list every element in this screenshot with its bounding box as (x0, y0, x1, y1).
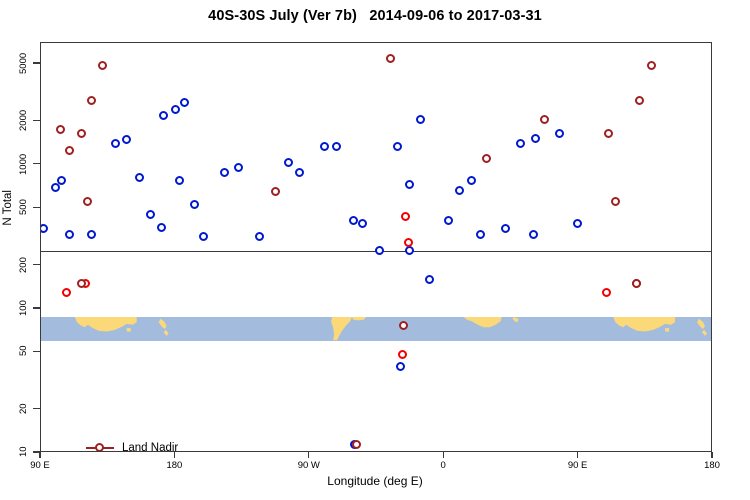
data-point-marker (122, 135, 131, 144)
data-point-marker (220, 168, 229, 177)
landmass-shape (464, 317, 502, 327)
data-point-marker (77, 279, 86, 288)
y-tick-label: 50 (18, 335, 29, 367)
data-point-marker (87, 96, 96, 105)
x-tick-mark (174, 452, 175, 458)
landmass-shape (665, 328, 669, 331)
x-tick-label: 90 E (568, 460, 588, 471)
data-point-marker (482, 154, 491, 163)
data-point-marker (398, 350, 407, 359)
y-tick-label: 200 (18, 249, 29, 281)
landmass-shape (159, 319, 167, 329)
data-point-marker (146, 210, 155, 219)
data-point-marker (271, 187, 280, 196)
y-tick-label: 100 (18, 292, 29, 324)
data-point-marker (416, 115, 425, 124)
data-point-marker (531, 134, 540, 143)
data-point-marker (159, 111, 168, 120)
data-point-marker (135, 173, 144, 182)
data-point-marker (234, 163, 243, 172)
data-point-marker (540, 115, 549, 124)
x-tick-label: 90 E (30, 460, 50, 471)
landmass-shape (697, 319, 705, 329)
data-point-marker (320, 142, 329, 151)
y-tick-mark (33, 207, 40, 208)
y-axis-title: N Total (2, 190, 14, 226)
data-point-marker (171, 105, 180, 114)
data-point-marker (40, 224, 48, 233)
y-tick-label: 10 (18, 436, 29, 468)
y-tick-mark (33, 307, 40, 308)
data-point-marker (425, 275, 434, 284)
world-map-landmasses (41, 317, 711, 341)
data-point-marker (404, 238, 413, 247)
data-point-marker (393, 142, 402, 151)
data-point-marker (175, 176, 184, 185)
data-point-marker (611, 197, 620, 206)
data-point-marker (455, 186, 464, 195)
landmass-shape (331, 317, 352, 340)
data-point-marker (180, 98, 189, 107)
data-point-marker (405, 180, 414, 189)
chart-legend: Land Nadir Land Glint Ocean Glint (86, 441, 183, 452)
landmass-shape (352, 317, 366, 320)
data-point-marker (57, 176, 66, 185)
data-point-marker (602, 288, 611, 297)
data-point-marker (501, 224, 510, 233)
y-tick-mark (33, 120, 40, 121)
data-point-marker (396, 362, 405, 371)
data-point-marker (157, 223, 166, 232)
data-point-marker (635, 96, 644, 105)
data-point-marker (56, 125, 65, 134)
y-tick-label: 2000 (18, 104, 29, 136)
data-point-marker (255, 232, 264, 241)
data-point-marker (65, 146, 74, 155)
data-point-marker (332, 142, 341, 151)
data-point-marker (386, 54, 395, 63)
data-point-marker (444, 216, 453, 225)
x-axis-title: Longitude (deg E) (0, 474, 750, 488)
y-tick-mark (33, 264, 40, 265)
data-point-marker (349, 216, 358, 225)
x-tick-label: 180 (704, 460, 720, 471)
data-point-marker (573, 219, 582, 228)
legend-label-land-nadir: Land Nadir (122, 442, 178, 452)
data-point-marker (83, 197, 92, 206)
legend-item-land-nadir: Land Nadir (86, 441, 183, 452)
data-point-marker (401, 212, 410, 221)
x-tick-mark (577, 452, 578, 458)
y-tick-label: 500 (18, 191, 29, 223)
data-point-marker (632, 279, 641, 288)
chart-figure: 40S-30S July (Ver 7b) 2014-09-06 to 2017… (0, 0, 750, 500)
landmass-shape (702, 330, 707, 336)
y-tick-mark (33, 408, 40, 409)
x-tick-label: 0 (441, 460, 446, 471)
y-tick-mark (33, 351, 40, 352)
data-point-marker (358, 219, 367, 228)
data-point-marker (295, 168, 304, 177)
data-point-marker (111, 139, 120, 148)
x-tick-mark (39, 452, 40, 458)
data-point-marker (284, 158, 293, 167)
x-tick-mark (711, 452, 712, 458)
legend-marker-icon-land-nadir (86, 442, 114, 452)
world-map-band (41, 317, 711, 341)
data-point-marker (555, 129, 564, 138)
data-point-marker (87, 230, 96, 239)
data-point-marker (375, 246, 384, 255)
data-point-marker (62, 288, 71, 297)
x-tick-mark (443, 452, 444, 458)
x-tick-mark (308, 452, 309, 458)
chart-title: 40S-30S July (Ver 7b) 2014-09-06 to 2017… (0, 8, 750, 24)
data-point-marker (467, 176, 476, 185)
y-tick-label: 1000 (18, 148, 29, 180)
y-tick-mark (33, 163, 40, 164)
data-point-marker (529, 230, 538, 239)
data-point-marker (190, 200, 199, 209)
x-tick-label: 180 (166, 460, 182, 471)
y-tick-label: 20 (18, 393, 29, 425)
data-point-marker (77, 129, 86, 138)
data-point-marker (476, 230, 485, 239)
y-tick-label: 5000 (18, 47, 29, 79)
data-point-marker (405, 246, 414, 255)
landmass-shape (513, 317, 519, 322)
data-point-marker (647, 61, 656, 70)
data-point-marker (604, 129, 613, 138)
landmass-shape (164, 330, 169, 336)
plot-area: Land Nadir Land Glint Ocean Glint (40, 42, 712, 452)
data-point-marker (65, 230, 74, 239)
data-point-marker (199, 232, 208, 241)
x-tick-label: 90 W (298, 460, 320, 471)
y-tick-mark (33, 62, 40, 63)
data-point-marker (352, 440, 361, 449)
landmass-shape (127, 328, 131, 331)
data-point-marker (98, 61, 107, 70)
data-point-marker (516, 139, 525, 148)
